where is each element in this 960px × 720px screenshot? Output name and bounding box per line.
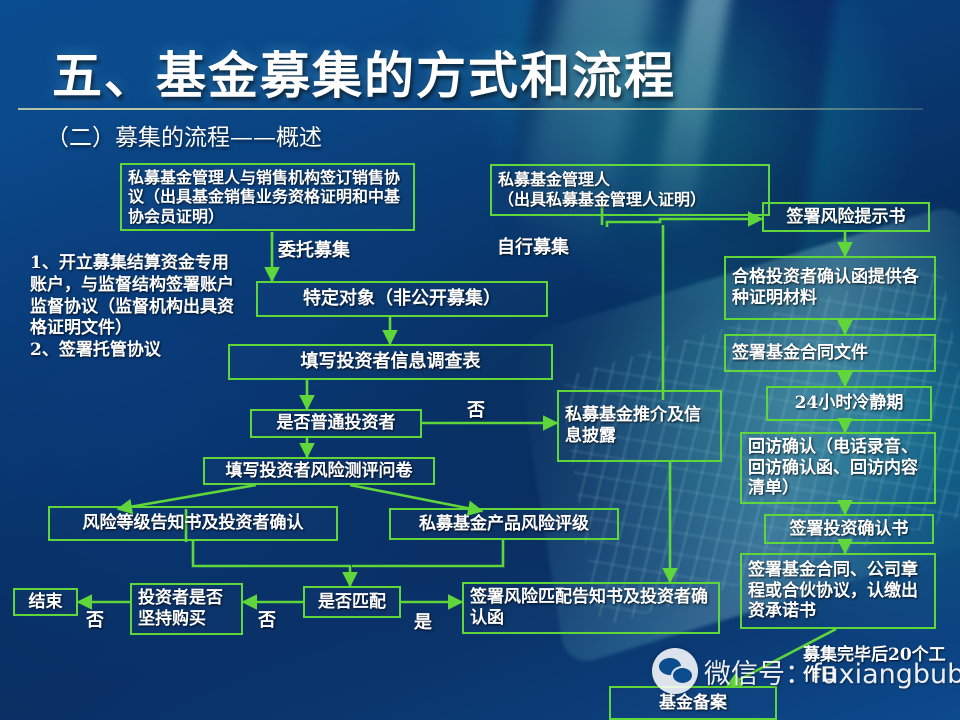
flow-node-callback-confirm[interactable]: 回访确认（电话录音、回访确认函、回访内容清单） <box>740 432 936 504</box>
edge-label-self-raise: 自行募集 <box>497 233 569 259</box>
flow-node-is-ordinary-investor[interactable]: 是否普通投资者 <box>250 409 422 438</box>
flow-node-label: 私募基金管理人与销售机构签订销售协议（出具基金销售业务资格证明和中基协会员证明） <box>128 168 407 227</box>
flow-node-risk-match-notice[interactable]: 签署风险匹配告知书及投资者确认函 <box>462 582 720 634</box>
flow-node-label: 填写投资者风险测评问卷 <box>211 461 427 482</box>
flow-node-label: 签署风险提示书 <box>770 207 922 228</box>
flow-node-label: 风险等级告知书及投资者确认 <box>56 513 330 534</box>
flow-node-end[interactable]: 结束 <box>13 588 78 616</box>
left-note-text: 1、开立募集结算资金专用账户，与监督结构签署账户监督协议（监督机构出具资格证明文… <box>30 253 235 362</box>
edge-label-entrusted-raise: 委托募集 <box>278 236 350 262</box>
flow-node-is-match[interactable]: 是否匹配 <box>303 586 401 618</box>
flow-node-sign-contract-charter[interactable]: 签署基金合同、公司章程或合伙协议，认缴出资承诺书 <box>740 553 936 629</box>
flow-node-sign-fund-contract-doc[interactable]: 签署基金合同文件 <box>724 334 936 372</box>
page-subtitle: （二）募集的流程——概述 <box>46 118 322 152</box>
edge-label-yes: 是 <box>414 608 432 634</box>
flow-node-risk-level-notice[interactable]: 风险等级告知书及投资者确认 <box>48 506 338 541</box>
flow-node-label: 签署基金合同、公司章程或合伙协议，认缴出资承诺书 <box>748 560 928 622</box>
edge-label-no-1: 否 <box>467 396 485 422</box>
flow-node-qualified-investor-letter[interactable]: 合格投资者确认函提供各种证明材料 <box>724 256 936 320</box>
flow-node-sign-risk-disclosure[interactable]: 签署风险提示书 <box>762 202 930 232</box>
flow-node-label: 结束 <box>21 592 70 613</box>
flow-node-label: 签署风险匹配告知书及投资者确认函 <box>470 587 712 628</box>
flow-node-fund-manager[interactable]: 私募基金管理人 （出具私募基金管理人证明） <box>490 164 770 216</box>
wechat-icon <box>652 648 698 694</box>
flow-node-label: 合格投资者确认函提供各种证明材料 <box>732 267 928 308</box>
flow-node-label: 签署基金合同文件 <box>732 343 928 364</box>
flow-node-label: 私募基金管理人 （出具私募基金管理人证明） <box>498 170 762 209</box>
flow-node-sign-investment-confirm[interactable]: 签署投资确认书 <box>764 514 934 544</box>
edge-label-no-3: 否 <box>86 606 104 632</box>
flow-node-product-risk-rating[interactable]: 私募基金产品风险评级 <box>389 508 619 540</box>
flow-node-specific-target[interactable]: 特定对象（非公开募集） <box>256 281 548 317</box>
title-divider <box>18 108 923 110</box>
flow-node-label: 填写投资者信息调查表 <box>236 351 545 373</box>
flow-node-label: 回访确认（电话录音、回访确认函、回访内容清单） <box>748 437 928 499</box>
flow-node-label: 24小时冷静期 <box>774 393 924 414</box>
flow-node-cooling-period[interactable]: 24小时冷静期 <box>766 386 932 421</box>
flow-node-label: 是否普通投资者 <box>258 413 414 434</box>
flow-node-investor-survey[interactable]: 填写投资者信息调查表 <box>228 344 553 380</box>
flow-node-sales-agreement[interactable]: 私募基金管理人与销售机构签订销售协议（出具基金销售业务资格证明和中基协会员证明） <box>120 163 415 231</box>
flow-node-label: 私募基金推介及信息披露 <box>565 405 714 446</box>
wechat-watermark: 微信号：fuxiangbubin <box>652 648 960 694</box>
wechat-id-text: 微信号：fuxiangbubin <box>704 652 960 691</box>
slide-canvas: 五、基金募集的方式和流程 （二）募集的流程——概述 <box>0 0 960 720</box>
edge-label-no-2: 否 <box>258 606 276 632</box>
flow-node-label: 基金备案 <box>617 693 769 714</box>
flow-node-label: 签署投资确认书 <box>772 519 926 540</box>
flow-node-risk-questionnaire[interactable]: 填写投资者风险测评问卷 <box>203 457 435 485</box>
flow-node-label: 特定对象（非公开募集） <box>264 288 540 310</box>
flow-node-label: 是否匹配 <box>311 592 393 613</box>
page-title: 五、基金募集的方式和流程 <box>52 36 676 108</box>
flow-node-label: 投资者是否坚持购买 <box>138 588 235 629</box>
flow-node-promotion-disclosure[interactable]: 私募基金推介及信息披露 <box>557 390 722 462</box>
flow-node-label: 私募基金产品风险评级 <box>397 514 611 535</box>
flow-node-investor-insist[interactable]: 投资者是否坚持购买 <box>130 583 243 635</box>
